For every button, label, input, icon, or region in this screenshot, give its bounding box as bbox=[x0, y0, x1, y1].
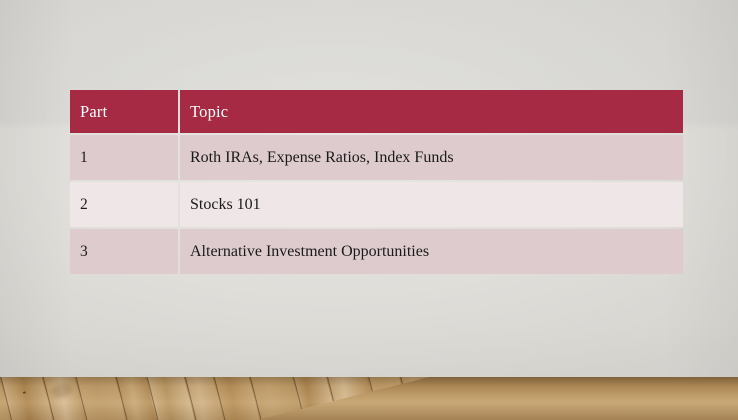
cell-topic: Alternative Investment Opportunities bbox=[180, 229, 683, 274]
table-row: 1 Roth IRAs, Expense Ratios, Index Funds bbox=[70, 135, 683, 180]
cell-topic: Stocks 101 bbox=[180, 182, 683, 227]
wood-floor bbox=[0, 377, 738, 420]
table-header-row: Part Topic bbox=[70, 90, 683, 133]
table-row: 2 Stocks 101 bbox=[70, 182, 683, 227]
cell-part-number: 2 bbox=[70, 182, 178, 227]
table-header: Part Topic bbox=[70, 90, 683, 133]
cell-topic: Roth IRAs, Expense Ratios, Index Funds bbox=[180, 135, 683, 180]
table-body: 1 Roth IRAs, Expense Ratios, Index Funds… bbox=[70, 135, 683, 274]
parts-topics-table: Part Topic 1 Roth IRAs, Expense Ratios, … bbox=[68, 88, 685, 276]
slide-canvas: Part Topic 1 Roth IRAs, Expense Ratios, … bbox=[0, 0, 738, 420]
table-row: 3 Alternative Investment Opportunities bbox=[70, 229, 683, 274]
column-header-topic: Topic bbox=[180, 90, 683, 133]
column-header-part: Part bbox=[70, 90, 178, 133]
content-table-container: Part Topic 1 Roth IRAs, Expense Ratios, … bbox=[68, 88, 683, 276]
cell-part-number: 3 bbox=[70, 229, 178, 274]
cell-part-number: 1 bbox=[70, 135, 178, 180]
floor-shading-overlay bbox=[0, 377, 738, 420]
